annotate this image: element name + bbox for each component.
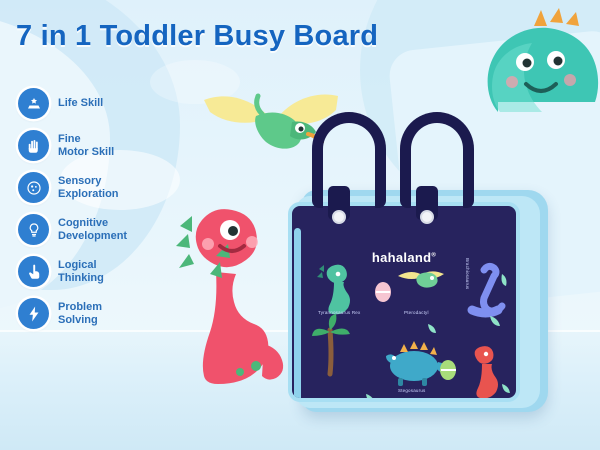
feature-label: Fine Motor Skill [58, 133, 114, 159]
product-busy-board-bag[interactable]: hahaland® [282, 186, 550, 418]
feature-label: Sensory Exploration [58, 175, 119, 201]
feature-list: Life Skill Fine Motor Skill [18, 88, 127, 329]
bag-front-panel: hahaland® [288, 202, 520, 402]
feature-item-life-skill: Life Skill [18, 88, 127, 119]
green-dinosaur-decor [470, 0, 600, 150]
page-title: 7 in 1 Toddler Busy Board [16, 20, 378, 53]
pink-dinosaur-decor [168, 188, 298, 388]
hand-icon [18, 130, 49, 161]
print-label: Tyrannosaurus Rex [318, 310, 360, 315]
print-label: Stegosaurus [398, 388, 425, 393]
feature-item-cognitive-development: Cognitive Development [18, 214, 127, 245]
lightbulb-brain-icon [18, 214, 49, 245]
snap-button-right[interactable] [420, 210, 434, 224]
sensory-icon [18, 172, 49, 203]
snap-button-left[interactable] [332, 210, 346, 224]
feature-item-sensory-exploration: Sensory Exploration [18, 172, 127, 203]
pointing-hand-icon [18, 256, 49, 287]
feature-label: Cognitive Development [58, 217, 127, 243]
feature-item-problem-solving: Problem Solving [18, 298, 127, 329]
product-banner: 7 in 1 Toddler Busy Board Life Skill [0, 0, 600, 450]
feature-item-fine-motor-skill: Fine Motor Skill [18, 130, 127, 161]
bag-print-artwork [292, 206, 520, 402]
feature-label: Life Skill [58, 97, 103, 110]
lightning-bolt-icon [18, 298, 49, 329]
feature-label: Problem Solving [58, 301, 102, 327]
print-label: Brachiosaurus [465, 258, 470, 289]
feature-label: Logical Thinking [58, 259, 104, 285]
feature-item-logical-thinking: Logical Thinking [18, 256, 127, 287]
life-skill-icon [18, 88, 49, 119]
print-label: Pterodactyl [404, 310, 429, 315]
